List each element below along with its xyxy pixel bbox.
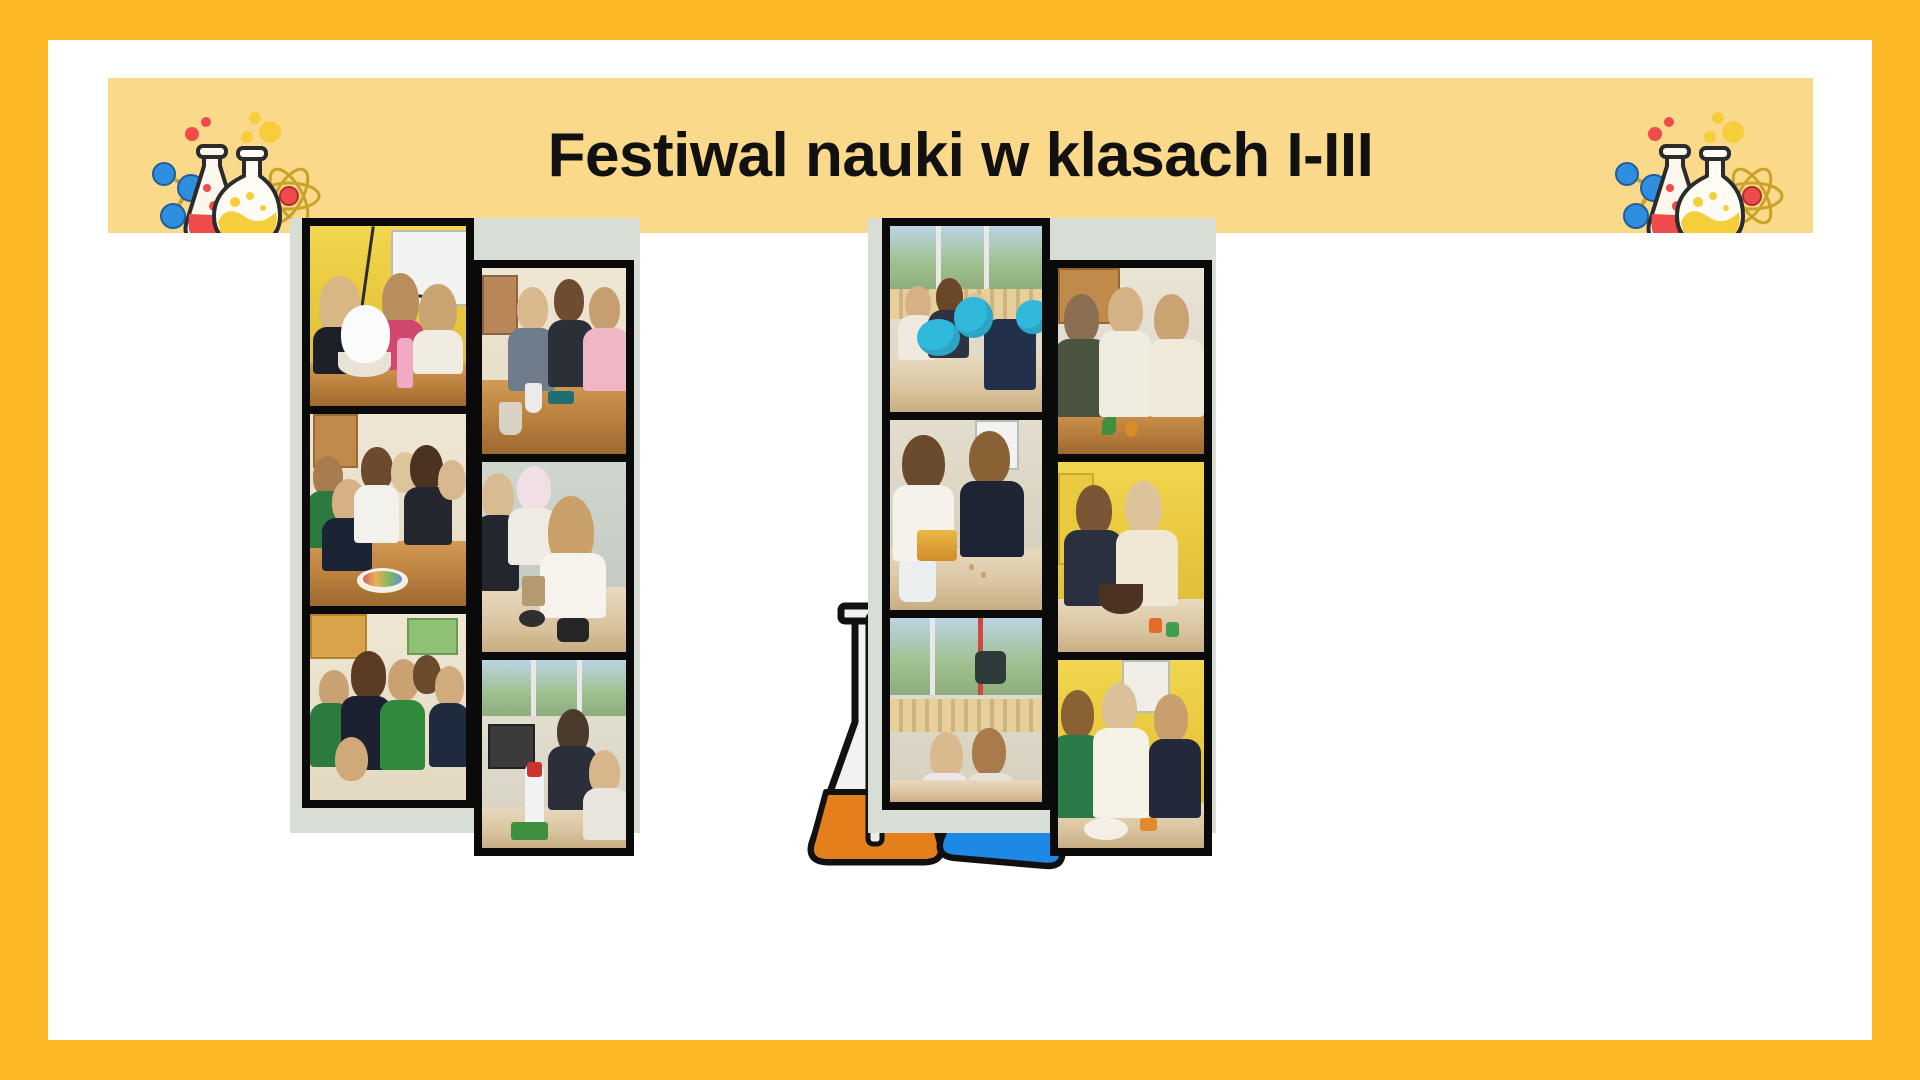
film-strip-left-outer — [302, 218, 474, 808]
photo-pupils-at-table-cups — [482, 268, 626, 454]
film-strip-right-outer — [882, 218, 1050, 810]
photo-children-around-desk-plate — [310, 414, 466, 606]
title-banner: Festiwal nauki w klasach I-III — [108, 78, 1813, 233]
photo-foam-experiment — [310, 226, 466, 406]
photo-blue-balloons — [890, 226, 1042, 412]
poster-root: Festiwal nauki w klasach I-III — [0, 0, 1920, 1080]
science-flasks-molecule-atom-icon — [1597, 104, 1787, 233]
film-strip-left-inner — [474, 260, 634, 856]
photo-boys-at-table-plate — [1058, 660, 1204, 848]
photo-girls-at-window-bench — [890, 618, 1042, 802]
poster-inner-canvas: Festiwal nauki w klasach I-III — [48, 40, 1872, 1040]
photo-classroom-pouring — [482, 660, 626, 848]
photo-girl-examining-jar — [482, 462, 626, 652]
film-strip-right-inner — [1050, 260, 1212, 856]
photo-group-watching-experiment — [310, 614, 466, 800]
photo-boys-with-seeds — [890, 420, 1042, 610]
photo-boys-planting — [1058, 268, 1204, 454]
photo-collage-right — [868, 218, 1216, 833]
photo-children-mixing-bowl — [1058, 462, 1204, 652]
page-title: Festiwal nauki w klasach I-III — [108, 78, 1813, 233]
photo-collage-left — [290, 218, 640, 833]
